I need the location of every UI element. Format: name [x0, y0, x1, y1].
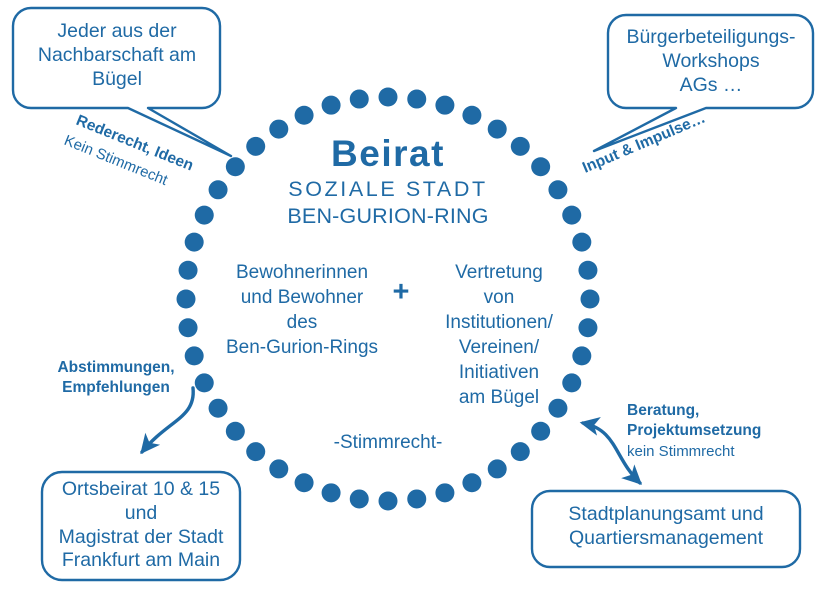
ring-dot — [209, 399, 228, 418]
ring-dot — [185, 233, 204, 252]
ring-dot — [462, 106, 481, 125]
center-heading: Beirat — [238, 131, 538, 176]
ring-dot — [407, 489, 426, 508]
ring-dot — [581, 290, 600, 309]
ring-dot — [548, 180, 567, 199]
voting-note: -Stimmrecht- — [288, 431, 488, 454]
ring-dot — [246, 442, 265, 461]
ring-dot — [572, 346, 591, 365]
bubble-text-top-right: Bürgerbeteiligungs- Workshops AGs … — [614, 26, 808, 97]
member-group-right: Vertretung von Institutionen/ Vereinen/ … — [424, 260, 574, 410]
ring-dot — [578, 261, 597, 280]
ring-dot — [322, 96, 341, 115]
ring-dot — [379, 492, 398, 511]
member-group-left: Bewohnerinnen und Bewohner des Ben-Gurio… — [214, 260, 390, 360]
ring-dot — [179, 318, 198, 337]
bubble-text-top-left: Jeder aus der Nachbarschaft am Bügel — [20, 20, 214, 91]
label-beratung: Beratung, Projektumsetzung — [627, 401, 807, 441]
ring-dot — [435, 483, 454, 502]
ring-dot — [407, 90, 426, 109]
box-text-bottom-right: Stadtplanungsamt und Quartiersmanagement — [538, 503, 794, 551]
plus-icon: + — [386, 275, 416, 310]
ring-dot — [350, 90, 369, 109]
ring-dot — [195, 206, 214, 225]
ring-dot — [578, 318, 597, 337]
box-text-bottom-left: Ortsbeirat 10 & 15 und Magistrat der Sta… — [46, 478, 236, 573]
ring-dot — [562, 206, 581, 225]
ring-dot — [462, 473, 481, 492]
ring-dot — [531, 422, 550, 441]
ring-dot — [322, 483, 341, 502]
diagram-canvas: Jeder aus der Nachbarschaft am Bügel Bür… — [0, 0, 820, 600]
ring-dot — [488, 459, 507, 478]
ring-dot — [379, 88, 398, 107]
label-abstimmungen: Abstimmungen, Empfehlungen — [36, 358, 196, 398]
ring-dot — [195, 373, 214, 392]
center-subheading-2: BEN-GURION-RING — [238, 203, 538, 229]
ring-dot — [209, 180, 228, 199]
ring-dot — [572, 233, 591, 252]
ring-dot — [177, 290, 196, 309]
ring-dot — [350, 489, 369, 508]
ring-dot — [435, 96, 454, 115]
ring-dot — [269, 459, 288, 478]
ring-dot — [295, 106, 314, 125]
ring-dot — [511, 442, 530, 461]
label-kein-stimmrecht-right: kein Stimmrecht — [627, 443, 807, 461]
ring-dot — [226, 422, 245, 441]
ring-dot — [179, 261, 198, 280]
center-subheading-1: SOZIALE STADT — [238, 176, 538, 202]
ring-dot — [295, 473, 314, 492]
